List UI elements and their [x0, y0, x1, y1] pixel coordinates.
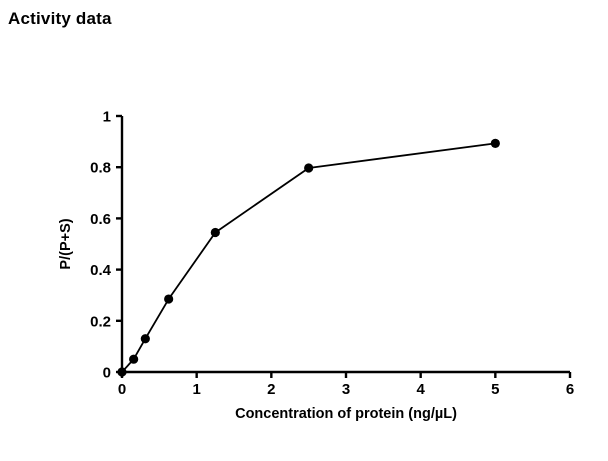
- data-series-line: [122, 143, 495, 372]
- x-axis-tick-label: 5: [491, 381, 499, 398]
- x-axis-tick-label: 4: [416, 381, 425, 398]
- y-axis-tick-label: 0.4: [90, 262, 112, 279]
- y-axis-tick-label: 1: [103, 109, 111, 126]
- y-axis-tick-label: 0: [103, 365, 111, 382]
- data-point-marker: [117, 367, 126, 376]
- y-axis-tick-label: 0.6: [90, 211, 111, 228]
- data-point-marker: [304, 163, 313, 172]
- x-axis-tick-label: 2: [267, 381, 275, 398]
- x-axis-tick-label: 0: [118, 381, 126, 398]
- data-point-marker: [164, 294, 173, 303]
- data-point-marker: [491, 139, 500, 148]
- y-axis-tick-label: 0.2: [90, 313, 111, 330]
- x-axis-tick-label: 6: [566, 381, 574, 398]
- x-axis-tick-label: 1: [192, 381, 200, 398]
- data-point-marker: [211, 228, 220, 237]
- data-point-marker: [129, 355, 138, 364]
- x-axis-tick-label: 3: [342, 381, 350, 398]
- y-axis-tick-label: 0.8: [90, 160, 111, 177]
- x-axis-title: Concentration of protein (ng/µL): [235, 406, 457, 422]
- activity-data-chart: 00.20.40.60.810123456Concentration of pr…: [0, 0, 608, 461]
- data-point-marker: [141, 334, 150, 343]
- y-axis-title: P/(P+S): [58, 218, 74, 269]
